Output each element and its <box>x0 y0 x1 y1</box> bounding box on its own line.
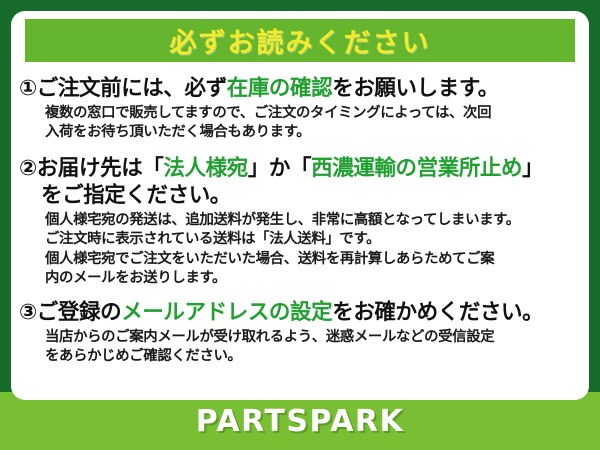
heading-run-2: 」か「 <box>248 156 311 181</box>
detail-line-2: 個人様宅宛でご注文をいただいた場合、送料を再計算しあらためてご案 <box>45 250 579 270</box>
notice-body: ①ご注文前には、必ず在庫の確認をお願いします。 複数の窓口で販売してますので、ご… <box>11 67 589 400</box>
heading-run-0: ③ご登録の <box>19 300 121 325</box>
notice-item-1-detail: 複数の窓口で販売してますので、ご注文のタイミングによっては、次回入荷をお待ち頂い… <box>19 104 579 143</box>
notice-item-3: ③ご登録のメールアドレスの設定をお確かめください。 当店からのご案内メールが受け… <box>19 299 579 367</box>
notice-header-title: 必ずお読みください <box>170 21 431 60</box>
heading-run-3: 西濃運輸の営業所止め <box>311 156 522 181</box>
heading-run-4: 」 <box>522 156 543 181</box>
notice-card: 必ずお読みください ①ご注文前には、必ず在庫の確認をお願いします。 複数の窓口で… <box>11 11 589 400</box>
detail-line-0: 個人様宅宛の発送は、追加送料が発生し、非常に高額となってしまいます。 <box>45 211 579 231</box>
notice-item-3-heading: ③ご登録のメールアドレスの設定をお確かめください。 <box>19 299 579 327</box>
notice-header-bar: 必ずお読みください <box>25 19 575 62</box>
heading-run-0: ②お届け先は「 <box>19 156 163 181</box>
heading-run-1: メールアドレスの設定 <box>121 300 332 325</box>
brand-footer: PARTSPARK <box>0 392 600 450</box>
notice-item-2-heading-continuation: をご指定ください。 <box>19 182 579 210</box>
brand-wordmark: PARTSPARK <box>196 404 405 439</box>
heading-run-1: 在庫の確認 <box>227 76 333 101</box>
heading-run-1: 法人様宛 <box>163 156 247 181</box>
detail-line-1: をあらかじめご確認ください。 <box>45 347 579 367</box>
notice-banner: PARTSPARK 必ずお読みください ①ご注文前には、必ず在庫の確認をお願いし… <box>0 0 600 450</box>
heading-run-2: をお願いします。 <box>332 76 499 101</box>
heading-run-2: をお確かめください。 <box>332 300 543 325</box>
detail-line-0: 複数の窓口で販売してますので、ご注文のタイミングによっては、次回 <box>45 104 579 124</box>
detail-line-3: 内のメールをお送りします。 <box>45 269 579 289</box>
notice-item-3-detail: 当店からのご案内メールが受け取れるよう、迷惑メールなどの受信設定をあらかじめご確… <box>19 328 579 367</box>
notice-item-2: ②お届け先は「法人様宛」か「西濃運輸の営業所止め」 をご指定ください。 個人様宅… <box>19 155 579 289</box>
detail-line-0: 当店からのご案内メールが受け取れるよう、迷惑メールなどの受信設定 <box>45 328 579 348</box>
notice-item-1-heading: ①ご注文前には、必ず在庫の確認をお願いします。 <box>19 75 579 103</box>
heading-run-0: ①ご注文前には、必ず <box>19 76 227 101</box>
detail-line-1: 入荷をお待ち頂いただく場合もあります。 <box>45 123 579 143</box>
notice-item-1: ①ご注文前には、必ず在庫の確認をお願いします。 複数の窓口で販売してますので、ご… <box>19 75 579 143</box>
notice-item-2-heading: ②お届け先は「法人様宛」か「西濃運輸の営業所止め」 <box>19 155 579 183</box>
notice-item-2-detail: 個人様宅宛の発送は、追加送料が発生し、非常に高額となってしまいます。ご注文時に表… <box>19 211 579 289</box>
detail-line-1: ご注文時に表示されている送料は「法人送料」です。 <box>45 230 579 250</box>
